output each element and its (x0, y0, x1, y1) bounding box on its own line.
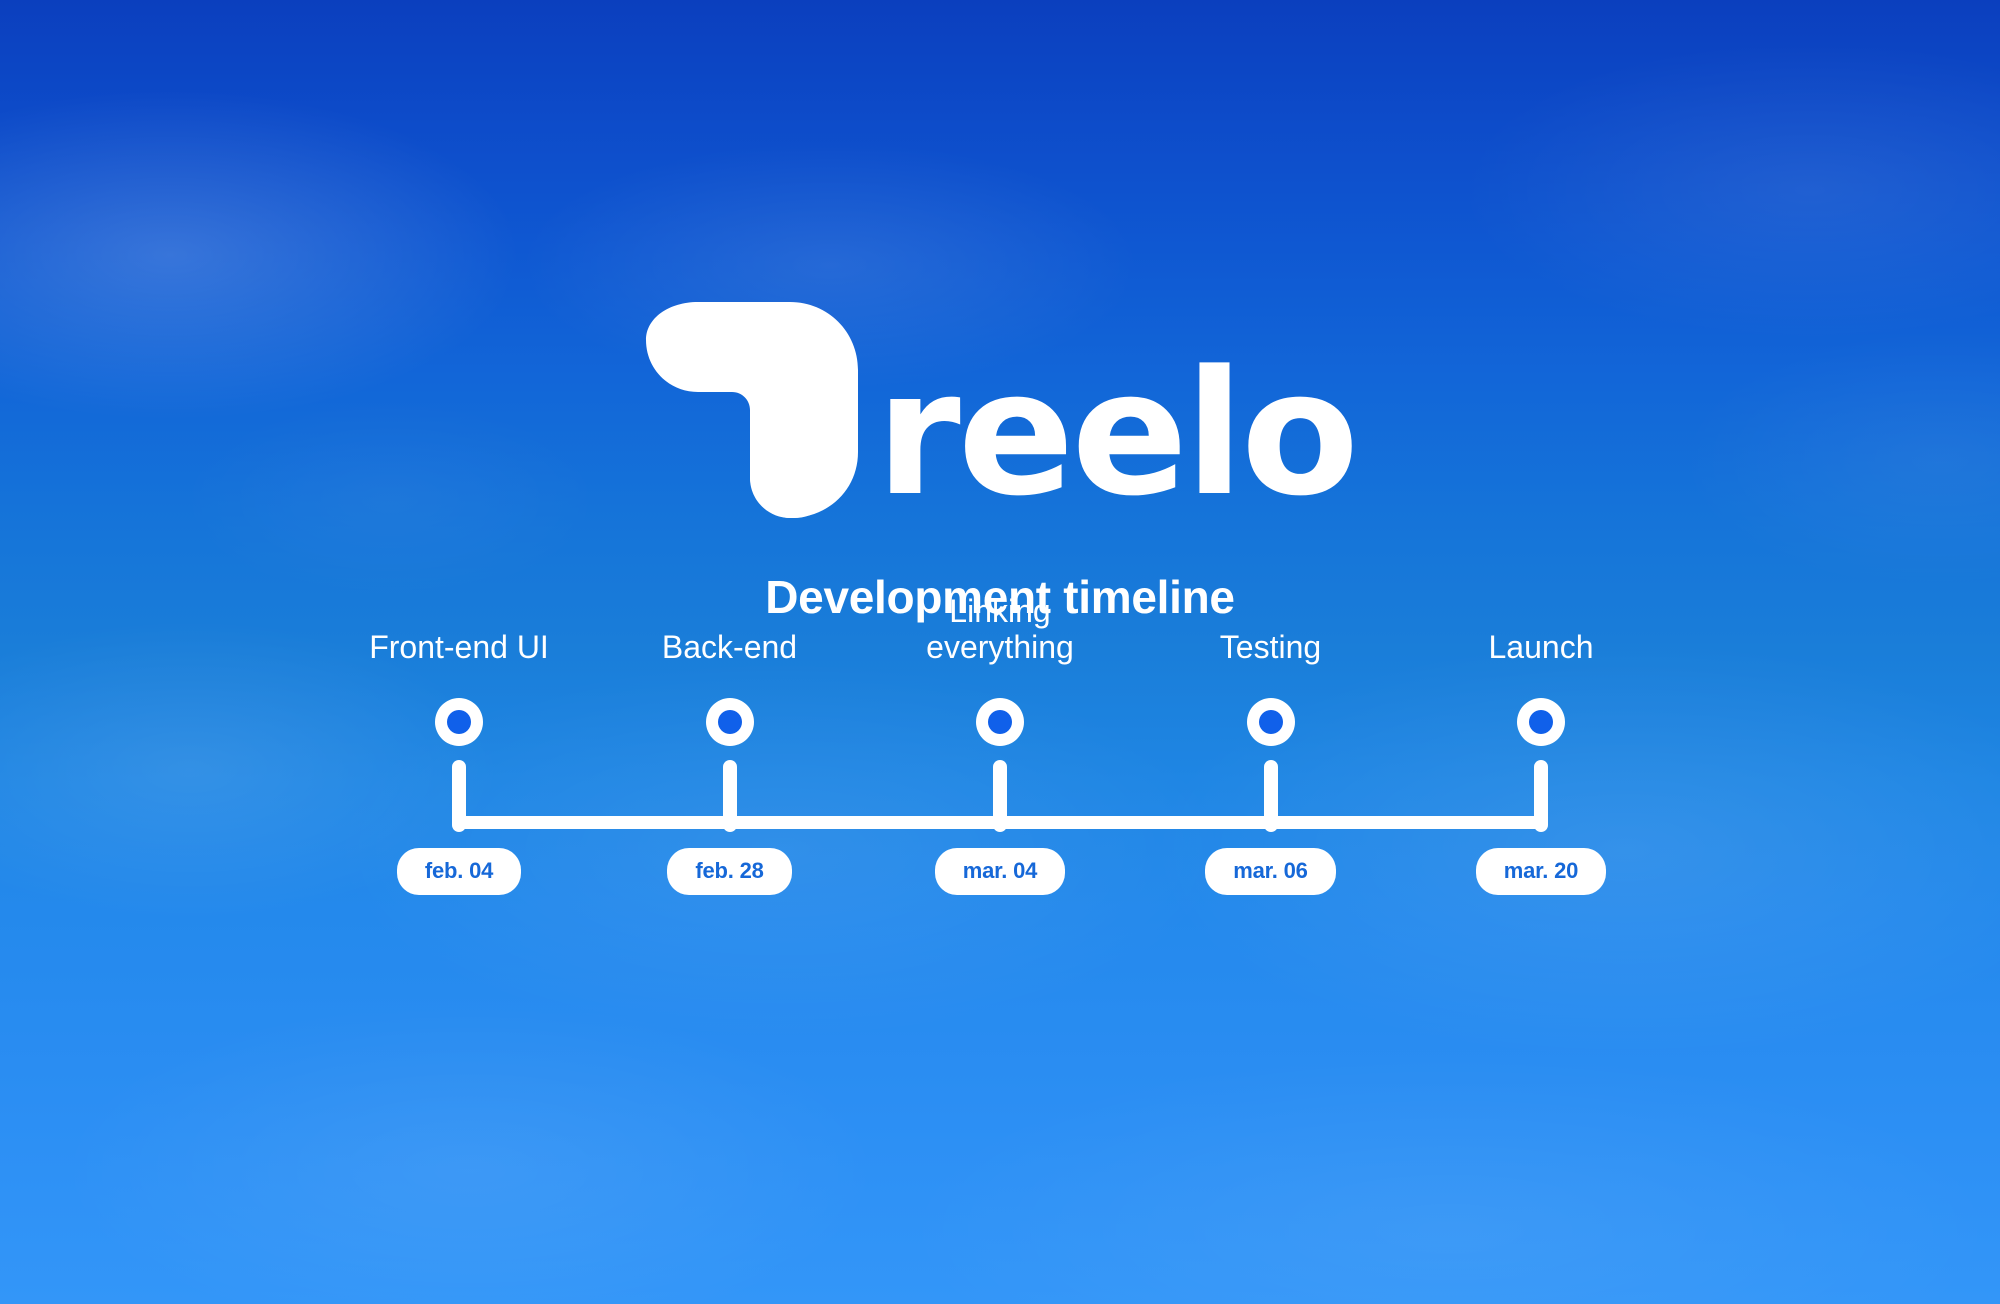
milestone-date-pill[interactable]: mar. 20 (1476, 848, 1606, 895)
milestone-label: Front-end UI (329, 630, 589, 684)
milestone-label: Back-end (600, 630, 860, 684)
milestone-tick-mark (452, 760, 466, 832)
milestone-date-pill[interactable]: mar. 04 (935, 848, 1065, 895)
milestone-tick-mark (723, 760, 737, 832)
milestone-node-dot-icon[interactable] (1517, 698, 1565, 746)
milestone-tick-mark (993, 760, 1007, 832)
milestone-date-pill[interactable]: feb. 04 (397, 848, 521, 895)
slide-content: reelo Development timeline Front-end UIf… (0, 0, 2000, 1304)
milestone-date-pill[interactable]: mar. 06 (1205, 848, 1335, 895)
milestone-node-dot-icon[interactable] (976, 698, 1024, 746)
milestone-tick-mark (1264, 760, 1278, 832)
milestone-node-inner-dot (718, 710, 742, 734)
milestone-label: Linking everything (870, 594, 1130, 684)
milestone-node-dot-icon[interactable] (706, 698, 754, 746)
milestone-label: Launch (1411, 630, 1671, 684)
milestone-node-inner-dot (1529, 710, 1553, 734)
milestone-node-dot-icon[interactable] (435, 698, 483, 746)
milestone-node-inner-dot (988, 710, 1012, 734)
milestone-node-inner-dot (447, 710, 471, 734)
milestone-tick-mark (1534, 760, 1548, 832)
milestone-date-pill[interactable]: feb. 28 (667, 848, 791, 895)
milestone-label: Testing (1141, 630, 1401, 684)
brand-lockup: reelo (644, 300, 1356, 520)
brand-wordmark: reelo (876, 348, 1356, 520)
milestone-node-inner-dot (1259, 710, 1283, 734)
development-timeline: Front-end UIfeb. 04Back-endfeb. 28Linkin… (150, 684, 1850, 984)
milestone-node-dot-icon[interactable] (1247, 698, 1295, 746)
reelo-elbow-arrow-mark-icon (644, 300, 860, 520)
